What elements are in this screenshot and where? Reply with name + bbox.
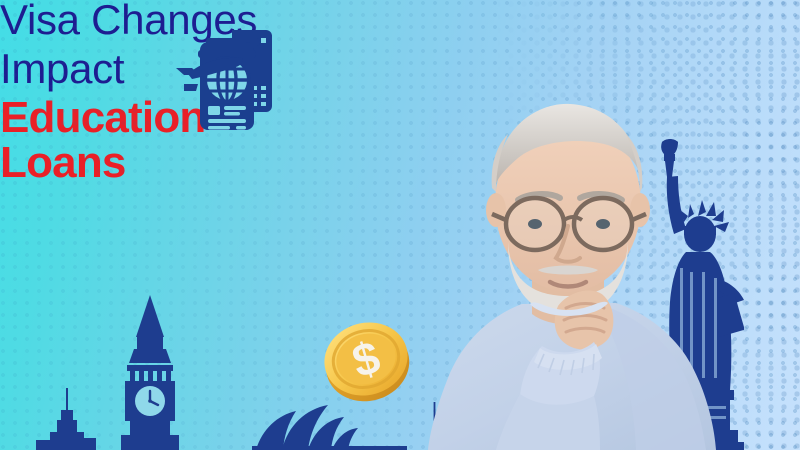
passport-travel-icon <box>158 24 284 136</box>
sydney-opera-house-landmark <box>252 405 407 450</box>
headline-line-4: Loans <box>0 142 330 185</box>
big-ben-landmark <box>96 295 204 450</box>
dollar-coin-icon: $ <box>318 313 414 405</box>
skyscraper-landmark <box>28 388 110 450</box>
promotional-banner: $ Visa Changes Impact Education Loans <box>0 0 800 450</box>
person-photo <box>404 92 734 450</box>
